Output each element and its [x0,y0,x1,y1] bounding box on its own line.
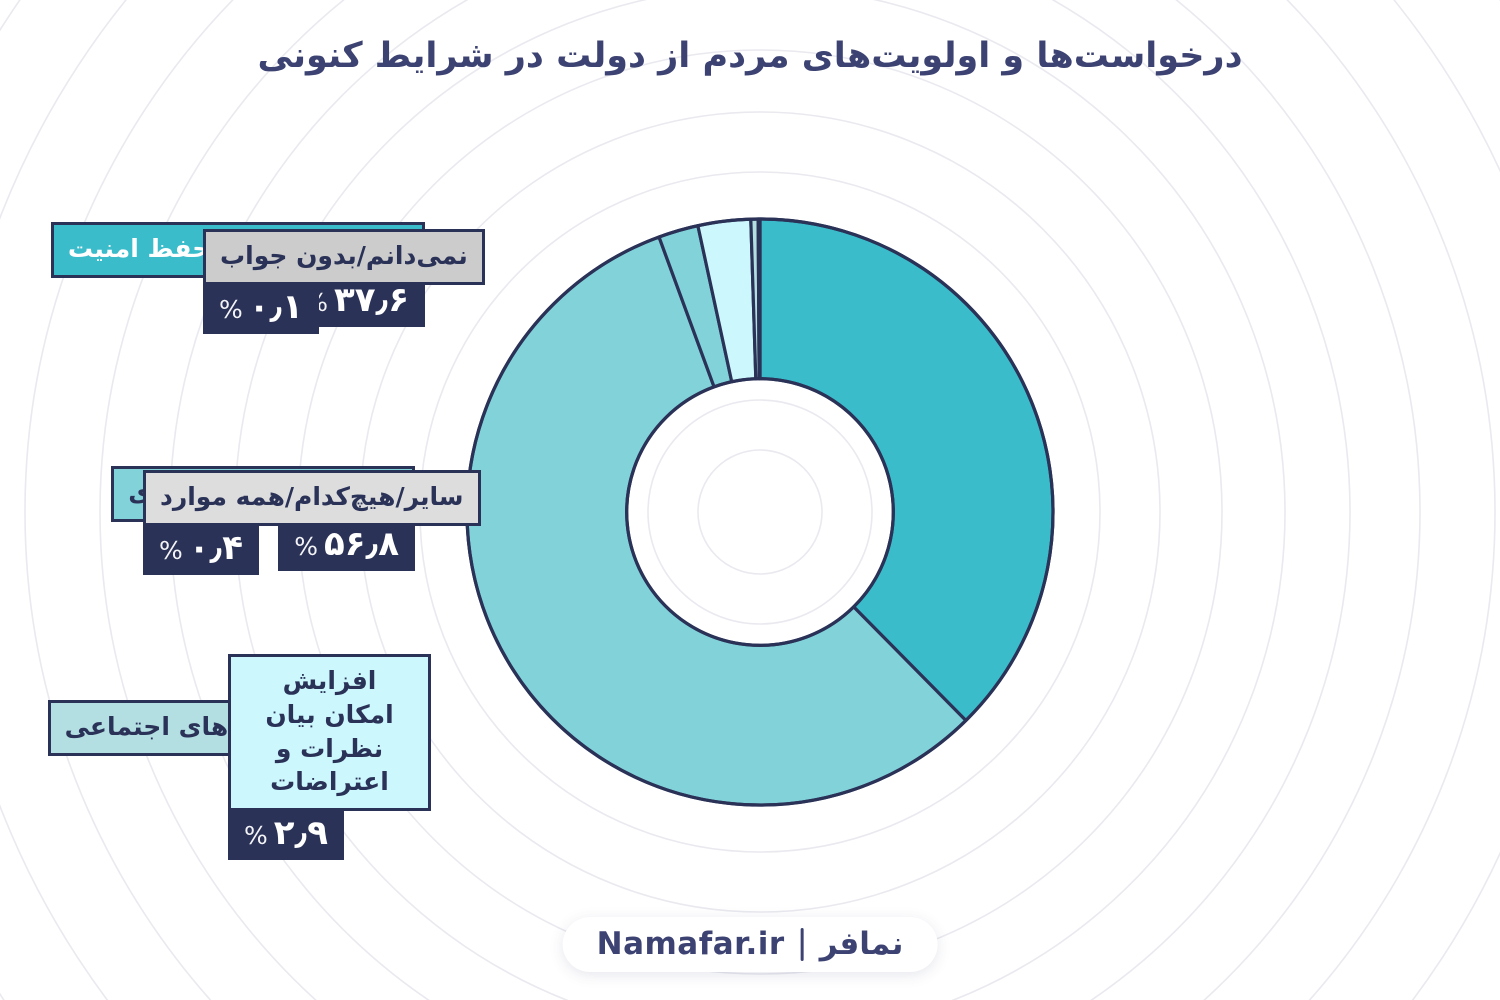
legend-value-dont-know: ۰٫۱ % [203,285,319,334]
brand-badge[interactable]: نمافر Namafar.ir [563,917,938,972]
legend-value-other-none-all: ۰٫۴ % [143,526,259,575]
donut-chart-svg [455,207,1065,817]
legend-item-dont-know[interactable]: نمی‌دانم/بدون جواب ۰٫۱ % [203,229,485,334]
donut-chart [455,207,1065,817]
percent-sign: % [244,822,268,850]
infographic-canvas: درخواست‌ها و اولویت‌های مردم از دولت در … [0,0,1500,1000]
legend-item-other-none-all[interactable]: سایر/هیچ‌کدام/همه موارد ۰٫۴ % [143,470,481,575]
legend-category-line-2: نظرات و اعتراضات [245,732,414,800]
percent-sign: % [219,296,243,324]
brand-name-en: Namafar.ir [597,929,785,960]
percent-sign: % [159,537,183,565]
legend-category-line-1: افزایش امکان بیان [245,664,414,732]
legend-value-number-dont-know: ۰٫۱ [249,289,303,326]
page-title: درخواست‌ها و اولویت‌های مردم از دولت در … [0,34,1500,80]
legend-value-number-freedom-of-expression: ۲٫۹ [274,815,328,852]
legend-category-freedom-of-expression: افزایش امکان بیان نظرات و اعتراضات [228,654,431,811]
legend-category-other-none-all: سایر/هیچ‌کدام/همه موارد [143,470,481,526]
donut-inner-edge [627,379,894,646]
legend-value-freedom-of-expression: ۲٫۹ % [228,811,344,860]
legend-category-dont-know: نمی‌دانم/بدون جواب [203,229,485,285]
legend-item-freedom-of-expression[interactable]: افزایش امکان بیان نظرات و اعتراضات ۲٫۹ % [228,654,431,860]
brand-name-fa: نمافر [820,929,904,960]
brand-separator [801,928,804,961]
legend-value-number-other-none-all: ۰٫۴ [189,530,243,567]
donut-slice-5[interactable] [758,219,760,379]
